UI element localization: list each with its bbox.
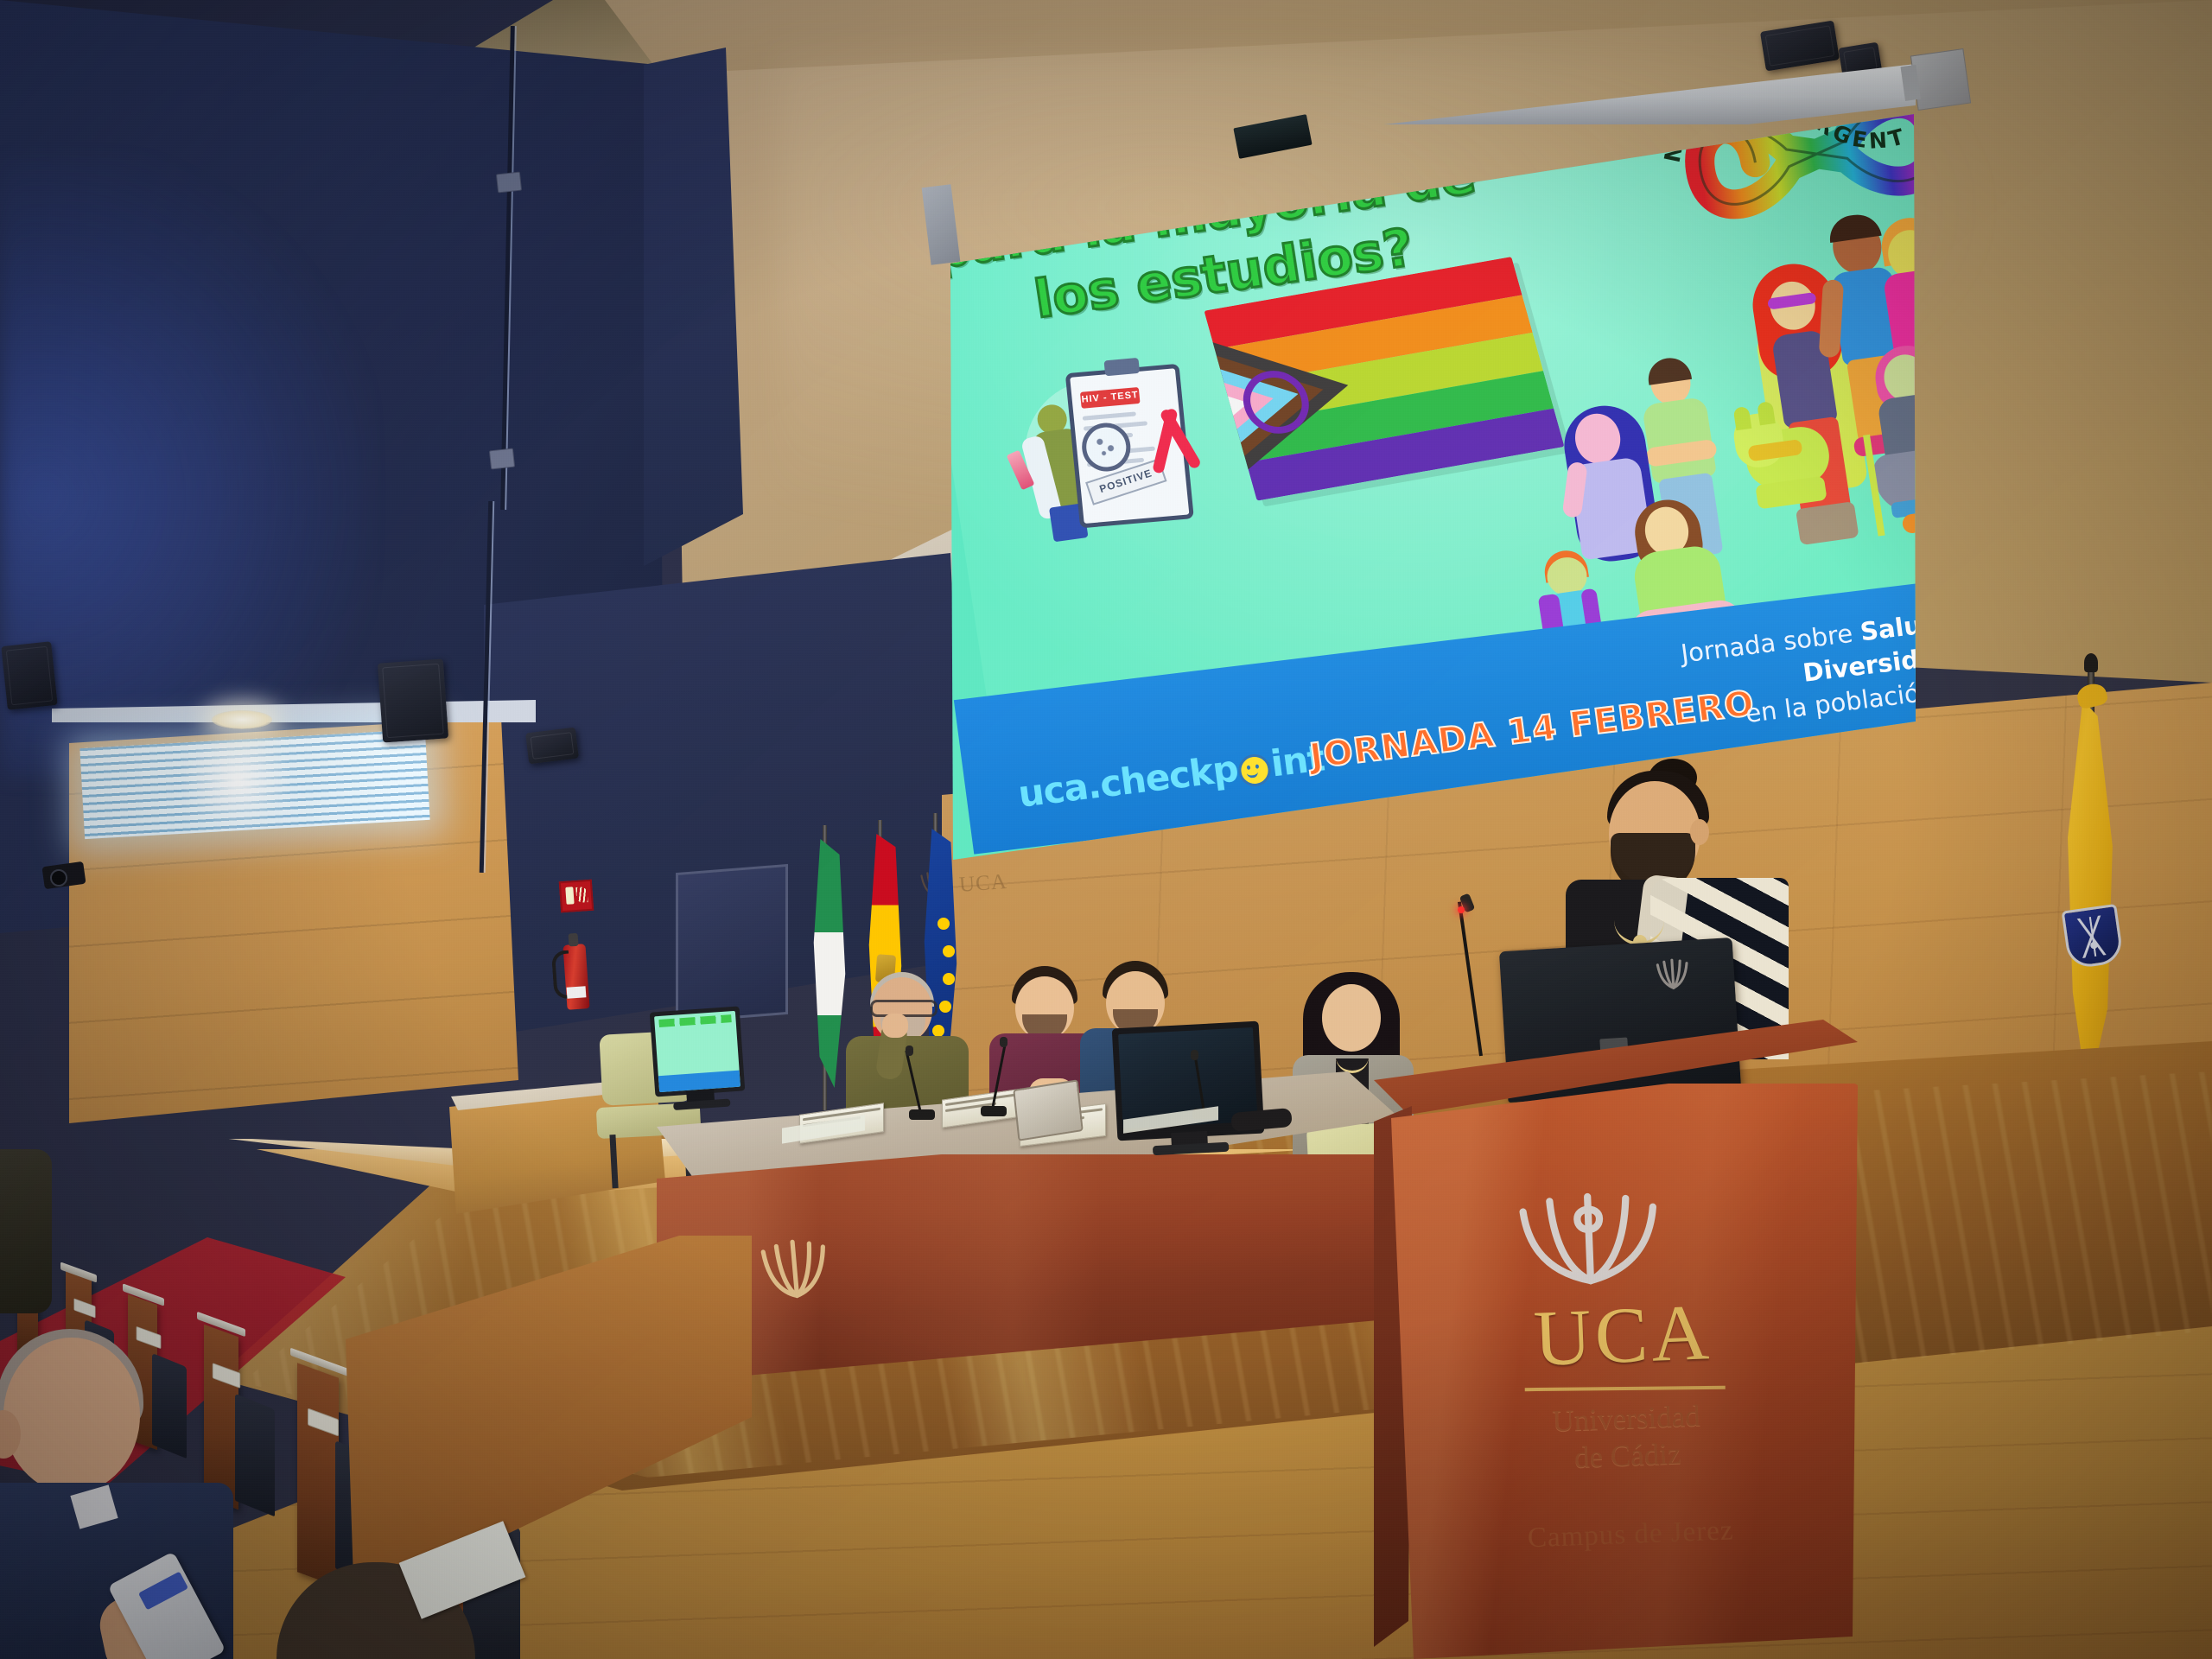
fire-extinguisher-sign [559,880,594,913]
uca-flag-crest [2062,904,2125,969]
dog-ear [1757,401,1776,425]
dog-ear [1733,406,1752,430]
audience-member-second [276,1562,518,1659]
panelist-glasses-icon [870,1000,938,1017]
lectern-university-name: Universidad de Cádiz [1513,1396,1740,1478]
brand-prefix: uca. [1016,764,1103,816]
presenter-ear [1690,819,1709,845]
lectern: UCA Universidad de Cádiz Campus de Jerez [1374,1020,1858,1659]
uca-checkpoint-logo: uca.checkpint [1016,736,1327,815]
wall-speaker-right [378,658,448,742]
gooseneck-microphone [909,1046,938,1120]
monitor-slide-title-bars [658,1014,731,1027]
lectern-acronym: UCA [1510,1291,1737,1379]
flag-knot [2075,681,2108,709]
camera-lens-icon [50,869,67,887]
uca-flag-cloth [2048,700,2131,1106]
tablet-on-stand[interactable] [1013,1079,1083,1141]
chair-leg [609,1135,618,1188]
panelist-hand [882,1014,908,1038]
audience-head [3,1338,140,1493]
mic-base [981,1106,1007,1116]
conduit-clamp [489,448,515,470]
wall-speaker-left [1,641,57,710]
screen-bracket-right [1910,48,1971,111]
audience-member-left-edge [0,1149,69,1322]
panelist-head [1322,984,1381,1052]
mic-capsule [906,1046,913,1056]
gooseneck-microphone [981,1037,1010,1116]
uca-crown-logo-icon [1505,1189,1673,1290]
mic-capsule [1191,1050,1198,1060]
blue-wall-light-glow [0,156,372,778]
smiley-face-icon [1236,753,1273,788]
mic-neck [1193,1054,1205,1113]
wall-speaker-far [525,728,579,765]
lecture-hall-photo: UCA ¿Qué más es invisible para la mayorí… [0,0,2212,1659]
hiv-test-label: HIV - TEST [1080,387,1141,409]
mic-capsule [1000,1037,1007,1047]
fire-extinguisher [563,944,589,1010]
flagpole-finial [2084,653,2098,672]
lectern-campus-name: Campus de Jerez [1518,1515,1744,1555]
conduit-clamp [496,172,522,194]
laptop-uca-sticker [1652,956,1694,993]
illustration-guide-dog [1728,389,1841,515]
stage-left-doorway[interactable] [676,864,788,1023]
lectern-uca-branding: UCA Universidad de Cádiz Campus de Jerez [1505,1186,1744,1558]
clipboard-line [1083,411,1136,420]
window-glare [183,739,291,831]
hiv-test-graphic: HIV - TEST POSITIVE [1014,353,1202,546]
seating-back-panel [346,1236,752,1607]
mic-base [909,1109,935,1120]
table-uca-logo [753,1234,836,1308]
fire-extinguisher-label [567,986,587,999]
ceiling-downlight [212,710,272,729]
lectern-rule [1525,1386,1726,1391]
illustration-boots [1796,501,1859,545]
mic-indicator-led [1458,906,1465,913]
brand-word-a: checkp [1097,747,1240,806]
mic-neck [991,1041,1007,1109]
audience-coat [0,1149,52,1313]
lectern-university-line-2: de Cádiz [1515,1433,1740,1479]
